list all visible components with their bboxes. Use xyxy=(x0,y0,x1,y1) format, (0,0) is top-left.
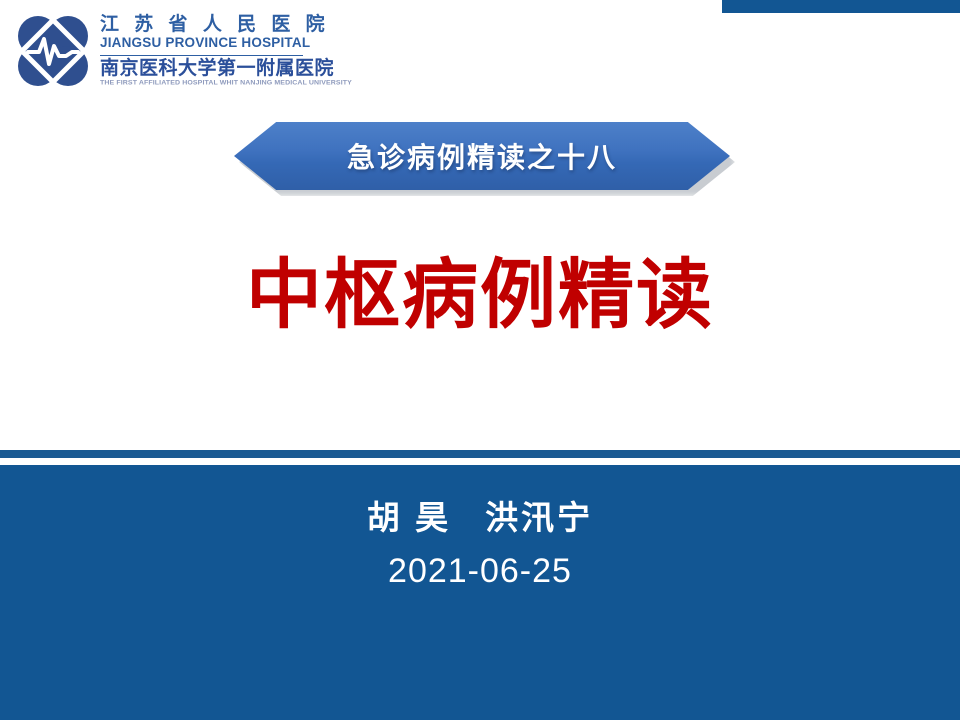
series-banner-label: 急诊病例精读之十八 xyxy=(347,136,617,176)
slide-main-title: 中枢病例精读 xyxy=(0,256,960,336)
presenter-name-primary: 胡 昊 xyxy=(367,499,451,536)
footer-panel: 胡 昊洪汛宁 2021-06-25 xyxy=(0,465,960,720)
hospital-clover-ecg-icon xyxy=(14,12,92,90)
logo-english-secondary: THE FIRST AFFILIATED HOSPITAL WHIT NANJI… xyxy=(100,79,352,88)
logo-chinese-primary: 江 苏 省 人 民 医 院 xyxy=(100,15,352,35)
presenter-name-secondary: 洪汛宁 xyxy=(485,499,593,536)
series-banner: 急诊病例精读之十八 xyxy=(234,122,730,194)
top-right-accent-bar xyxy=(722,0,960,13)
hospital-logo-text: 江 苏 省 人 民 医 院 JIANGSU PROVINCE HOSPITAL … xyxy=(100,13,352,88)
presentation-slide: 江 苏 省 人 民 医 院 JIANGSU PROVINCE HOSPITAL … xyxy=(0,0,960,720)
series-banner-chevron: 急诊病例精读之十八 xyxy=(234,122,730,190)
separator-rule-upper xyxy=(0,450,960,458)
presentation-date: 2021-06-25 xyxy=(0,552,960,591)
hospital-logo-block: 江 苏 省 人 民 医 院 JIANGSU PROVINCE HOSPITAL … xyxy=(14,10,304,92)
presenter-names: 胡 昊洪汛宁 xyxy=(0,491,960,539)
logo-divider xyxy=(100,55,303,56)
logo-chinese-secondary: 南京医科大学第一附属医院 xyxy=(100,59,352,80)
logo-english-primary: JIANGSU PROVINCE HOSPITAL xyxy=(100,35,352,51)
